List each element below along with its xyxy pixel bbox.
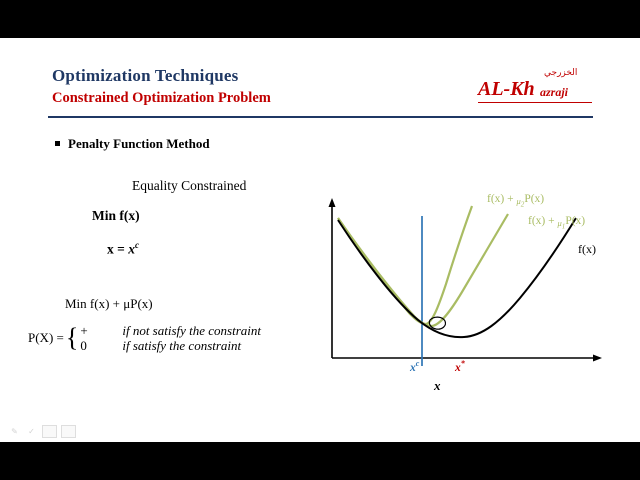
x-star-tick-label: x* [455, 359, 465, 374]
page-title: Optimization Techniques [52, 66, 238, 86]
px-case2-condition: if satisfy the constraint [122, 338, 241, 353]
constraint-superscript: c [135, 240, 139, 250]
px-lhs-label: P(X) = [28, 330, 64, 346]
px-case1-value: + [80, 323, 94, 338]
y-axis [329, 198, 336, 358]
logo-underline [478, 102, 592, 103]
penalty-function-definition: P(X) = { + if not satisfy the constraint… [28, 323, 261, 353]
objective-min-fx: Min f(x) [92, 208, 140, 224]
legend-label-fx: f(x) [578, 242, 596, 257]
x-axis [332, 355, 602, 362]
page-subtitle: Constrained Optimization Problem [52, 90, 271, 107]
highlighter-icon[interactable]: ✓ [25, 426, 38, 437]
x-axis-label: x [434, 378, 441, 394]
px-case1-condition: if not satisfy the constraint [122, 323, 261, 338]
bullet-label: Penalty Function Method [68, 136, 210, 152]
brace-icon: { [66, 331, 78, 345]
presentation-controls[interactable]: ✎ ✓ [8, 425, 76, 438]
constraint-x-equals-xc: x = xc [107, 240, 139, 258]
pen-icon[interactable]: ✎ [8, 426, 21, 437]
slide-canvas: Optimization Techniques Constrained Opti… [0, 38, 640, 442]
px-case-row: + if not satisfy the constraint [80, 323, 261, 338]
header-divider [48, 116, 593, 118]
menu-icon[interactable] [61, 425, 76, 438]
legend-label-mu1: f(x) + μ1P(x) [528, 215, 585, 231]
legend-label-mu2: f(x) + μ2P(x) [487, 193, 544, 209]
px-cases: + if not satisfy the constraint 0 if sat… [80, 323, 261, 353]
square-bullet-icon [55, 141, 60, 146]
px-case-row: 0 if satisfy the constraint [80, 338, 261, 353]
curve-f-plus-mu1-p [338, 214, 508, 326]
x-c-tick-label: xc [410, 359, 419, 374]
penalized-objective: Min f(x) + μP(x) [65, 296, 153, 312]
logo-suffix-text: azraji [540, 85, 568, 100]
constraint-prefix: x = [107, 242, 128, 257]
slide-icon[interactable] [42, 425, 57, 438]
logo-main-text: AL-Kh [478, 78, 535, 101]
bullet-penalty-function-method: Penalty Function Method [55, 136, 210, 152]
constraint-variable: x [128, 242, 135, 257]
logo-arabic-text: الخزرجي [544, 68, 577, 78]
px-case2-value: 0 [80, 338, 94, 353]
curve-f-x [338, 218, 576, 337]
screen: Optimization Techniques Constrained Opti… [0, 0, 640, 480]
brand-logo: الخزرجي AL-Kh azraji [478, 68, 598, 108]
equality-constrained-heading: Equality Constrained [132, 178, 246, 194]
